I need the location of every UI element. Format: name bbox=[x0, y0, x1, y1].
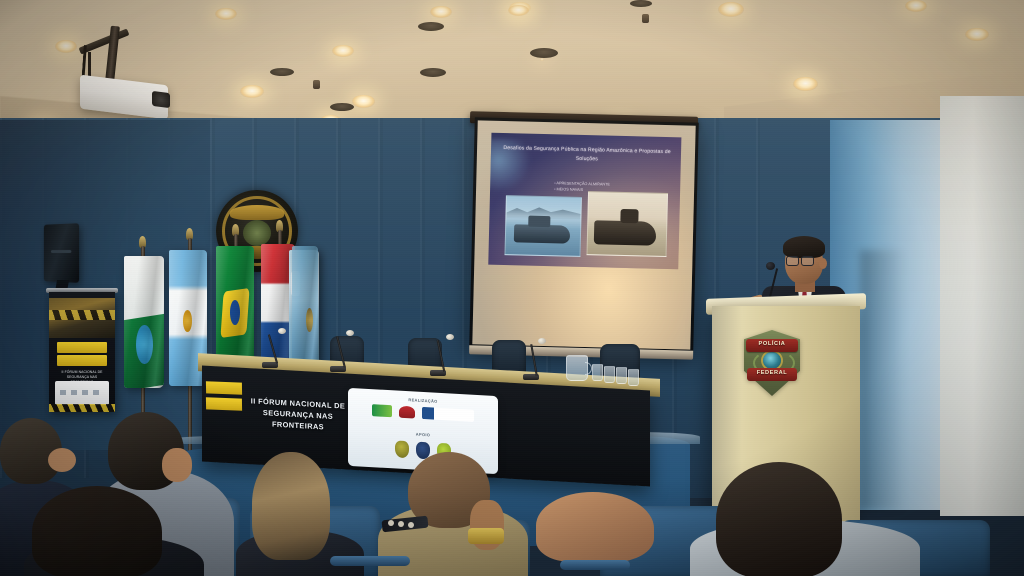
ceiling-downlight bbox=[965, 28, 989, 41]
wall-column bbox=[940, 96, 1024, 516]
speaker-eyeglasses bbox=[786, 256, 814, 264]
slide-image-boat bbox=[514, 224, 570, 243]
speaker-hair bbox=[783, 236, 825, 258]
flag-emblem bbox=[136, 325, 153, 365]
screen-surface: Desafios da Segurança Pública na Região … bbox=[472, 120, 695, 349]
podium-microphone-head bbox=[766, 262, 775, 270]
audience-person-head bbox=[32, 486, 162, 576]
ceiling-downlight bbox=[332, 45, 354, 57]
ceiling-downlight bbox=[905, 0, 927, 12]
ceiling-downlight bbox=[540, 58, 544, 61]
ceiling-vent bbox=[420, 68, 446, 77]
water-pitcher bbox=[566, 355, 588, 381]
ceiling-downlight bbox=[352, 95, 375, 108]
table-banner-yellow-band bbox=[206, 397, 242, 410]
seat-armrest bbox=[560, 560, 630, 570]
pf-logo bbox=[399, 406, 415, 419]
audience-person-hand bbox=[48, 448, 76, 472]
rollup-banner-yellow-band bbox=[57, 342, 107, 353]
slide-image-left bbox=[504, 195, 581, 257]
ceiling-vent bbox=[270, 68, 294, 76]
rollup-banner-line1: II FÓRUM NACIONAL DE bbox=[56, 370, 108, 375]
projector-lens bbox=[152, 91, 170, 108]
ceiling-vent bbox=[630, 0, 652, 7]
ceiling-downlight bbox=[718, 2, 744, 17]
table-banner: II FÓRUM NACIONAL DE SEGURANÇA NAS FRONT… bbox=[246, 393, 350, 447]
ceiling-downlight bbox=[215, 8, 237, 20]
audience-person-head bbox=[716, 462, 842, 576]
water-glass bbox=[604, 366, 615, 383]
institutional-flag bbox=[292, 246, 318, 366]
presentation-slide: Desafios da Segurança Pública na Região … bbox=[488, 133, 681, 270]
ceiling-downlight bbox=[240, 85, 264, 98]
rollup-banner-photo bbox=[49, 298, 115, 338]
flag-sun-emblem bbox=[183, 310, 192, 332]
officer-rank-star bbox=[398, 521, 404, 527]
slide-image-boat bbox=[594, 220, 657, 246]
seat-armrest bbox=[330, 556, 410, 566]
speaker-ear bbox=[819, 258, 827, 269]
ceiling-vent bbox=[530, 48, 558, 58]
table-microphone-head bbox=[538, 338, 546, 344]
receita-federal-logo bbox=[422, 407, 474, 422]
sprinkler-head bbox=[313, 80, 320, 89]
table-banner-yellow-band bbox=[206, 381, 242, 394]
agency-badge-olive-icon bbox=[395, 440, 409, 458]
table-microphone-head bbox=[346, 330, 354, 336]
sprinkler-head bbox=[642, 14, 649, 23]
badge-bottom-text: FEDERAL bbox=[744, 370, 800, 376]
ceiling-vent bbox=[418, 22, 444, 31]
audience-person-head bbox=[252, 452, 330, 560]
officer-rank-star bbox=[388, 520, 394, 526]
ceiling-vent bbox=[330, 103, 354, 111]
slide-image-right bbox=[587, 191, 669, 257]
water-glass bbox=[616, 367, 627, 384]
ceiling-downlight bbox=[793, 77, 818, 91]
flag-stripe bbox=[124, 314, 164, 388]
projection-screen: Desafios da Segurança Pública na Região … bbox=[469, 117, 699, 352]
table-microphone-head bbox=[278, 328, 286, 334]
rollup-banner: II FÓRUM NACIONAL DE SEGURANÇA NAS FRONT… bbox=[49, 292, 115, 412]
crest-top-band bbox=[230, 205, 284, 220]
table-microphone-head bbox=[446, 334, 454, 340]
ceiling-downlight bbox=[508, 5, 529, 16]
wall-speaker bbox=[44, 223, 79, 283]
rollup-banner-logos bbox=[55, 381, 109, 405]
ceiling-downlight bbox=[55, 40, 77, 53]
badge-top-text: POLÍCIA bbox=[744, 341, 800, 347]
audience-person-hand bbox=[536, 492, 654, 562]
badge-center-emblem bbox=[763, 352, 781, 369]
officer-wristwatch bbox=[468, 528, 504, 544]
audience-person-hand bbox=[162, 448, 192, 482]
crest-center-emblem bbox=[243, 220, 271, 246]
ministerio-justica-logo bbox=[372, 404, 392, 417]
column-shadow bbox=[860, 250, 906, 510]
flag-globe bbox=[230, 300, 240, 324]
flag-rhombus bbox=[220, 287, 249, 337]
ceiling-downlight bbox=[430, 6, 452, 18]
rollup-banner-yellow-band bbox=[57, 355, 107, 366]
flag-seal bbox=[306, 308, 313, 332]
rollup-banner-stripe bbox=[49, 404, 115, 412]
water-glass bbox=[592, 364, 603, 381]
parana-flag bbox=[124, 256, 164, 388]
podium-policia-federal-badge: POLÍCIA FEDERAL bbox=[744, 330, 800, 396]
auditorium-photo: Desafios da Segurança Pública na Região … bbox=[0, 0, 1024, 576]
water-glass bbox=[628, 369, 639, 386]
officer-rank-star bbox=[408, 522, 414, 528]
